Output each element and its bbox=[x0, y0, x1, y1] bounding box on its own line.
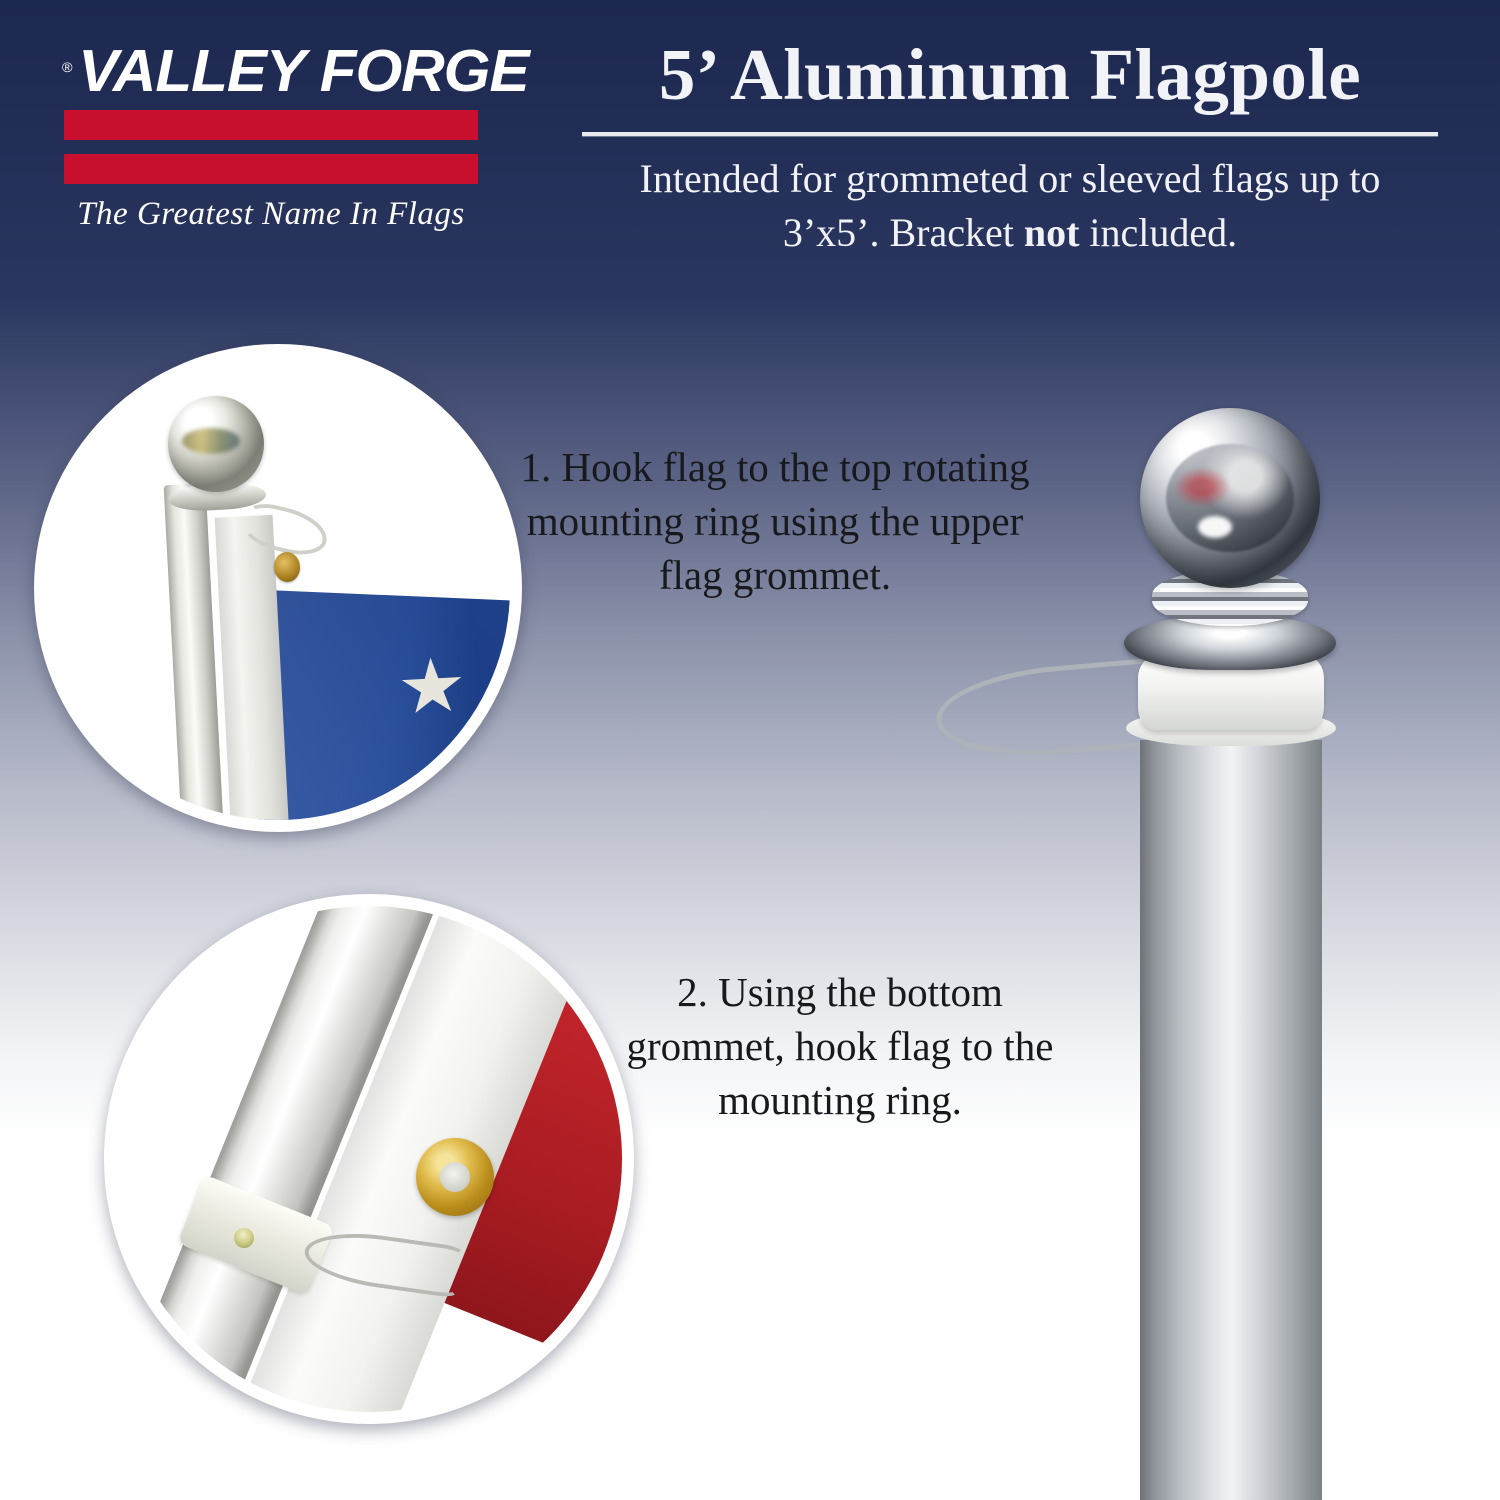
hero-product-image bbox=[900, 380, 1500, 1500]
detail-photo-2-image bbox=[116, 906, 622, 1412]
brand-red-bar-bottom bbox=[64, 154, 478, 184]
hero-aluminum-pole bbox=[1140, 740, 1322, 1500]
product-subtitle: Intended for grommeted or sleeved flags … bbox=[560, 152, 1460, 260]
subtitle-line-1: Intended for grommeted or sleeved flags … bbox=[560, 152, 1460, 206]
hero-finial-highlight bbox=[1198, 516, 1232, 538]
title-divider bbox=[582, 132, 1438, 136]
finial-reflection bbox=[182, 428, 240, 454]
brand-logo: ® VALLEY FORGE The Greatest Name In Flag… bbox=[64, 40, 494, 233]
brand-tagline: The Greatest Name In Flags bbox=[64, 196, 478, 233]
detail-photo-circle-1 bbox=[34, 344, 522, 832]
hero-finial-reflection bbox=[1166, 444, 1294, 552]
detail-photo-circle-2 bbox=[104, 894, 634, 1424]
brand-red-bar-top bbox=[64, 110, 478, 140]
subtitle-line-2: 3’x5’. Bracket not included. bbox=[560, 206, 1460, 260]
grommet-hole bbox=[440, 1162, 470, 1192]
subtitle-emphasis: not bbox=[1024, 210, 1080, 255]
detail-photo-1-image bbox=[46, 356, 510, 820]
header-text-block: 5’ Aluminum Flagpole Intended for gromme… bbox=[560, 34, 1460, 260]
header-banner: ® VALLEY FORGE The Greatest Name In Flag… bbox=[0, 0, 1500, 300]
product-infographic: ® VALLEY FORGE The Greatest Name In Flag… bbox=[0, 0, 1500, 1500]
brand-name: VALLEY FORGE bbox=[64, 38, 529, 104]
lower-flag-grommet bbox=[416, 1138, 494, 1216]
hero-ball-finial bbox=[1140, 408, 1320, 588]
ball-finial bbox=[168, 396, 264, 492]
page-title: 5’ Aluminum Flagpole bbox=[560, 34, 1460, 116]
brand-wordmark: ® VALLEY FORGE bbox=[64, 40, 503, 102]
registered-trademark-icon: ® bbox=[62, 36, 72, 98]
subtitle-post: included. bbox=[1079, 210, 1237, 255]
subtitle-pre: 3’x5’. Bracket bbox=[783, 210, 1024, 255]
